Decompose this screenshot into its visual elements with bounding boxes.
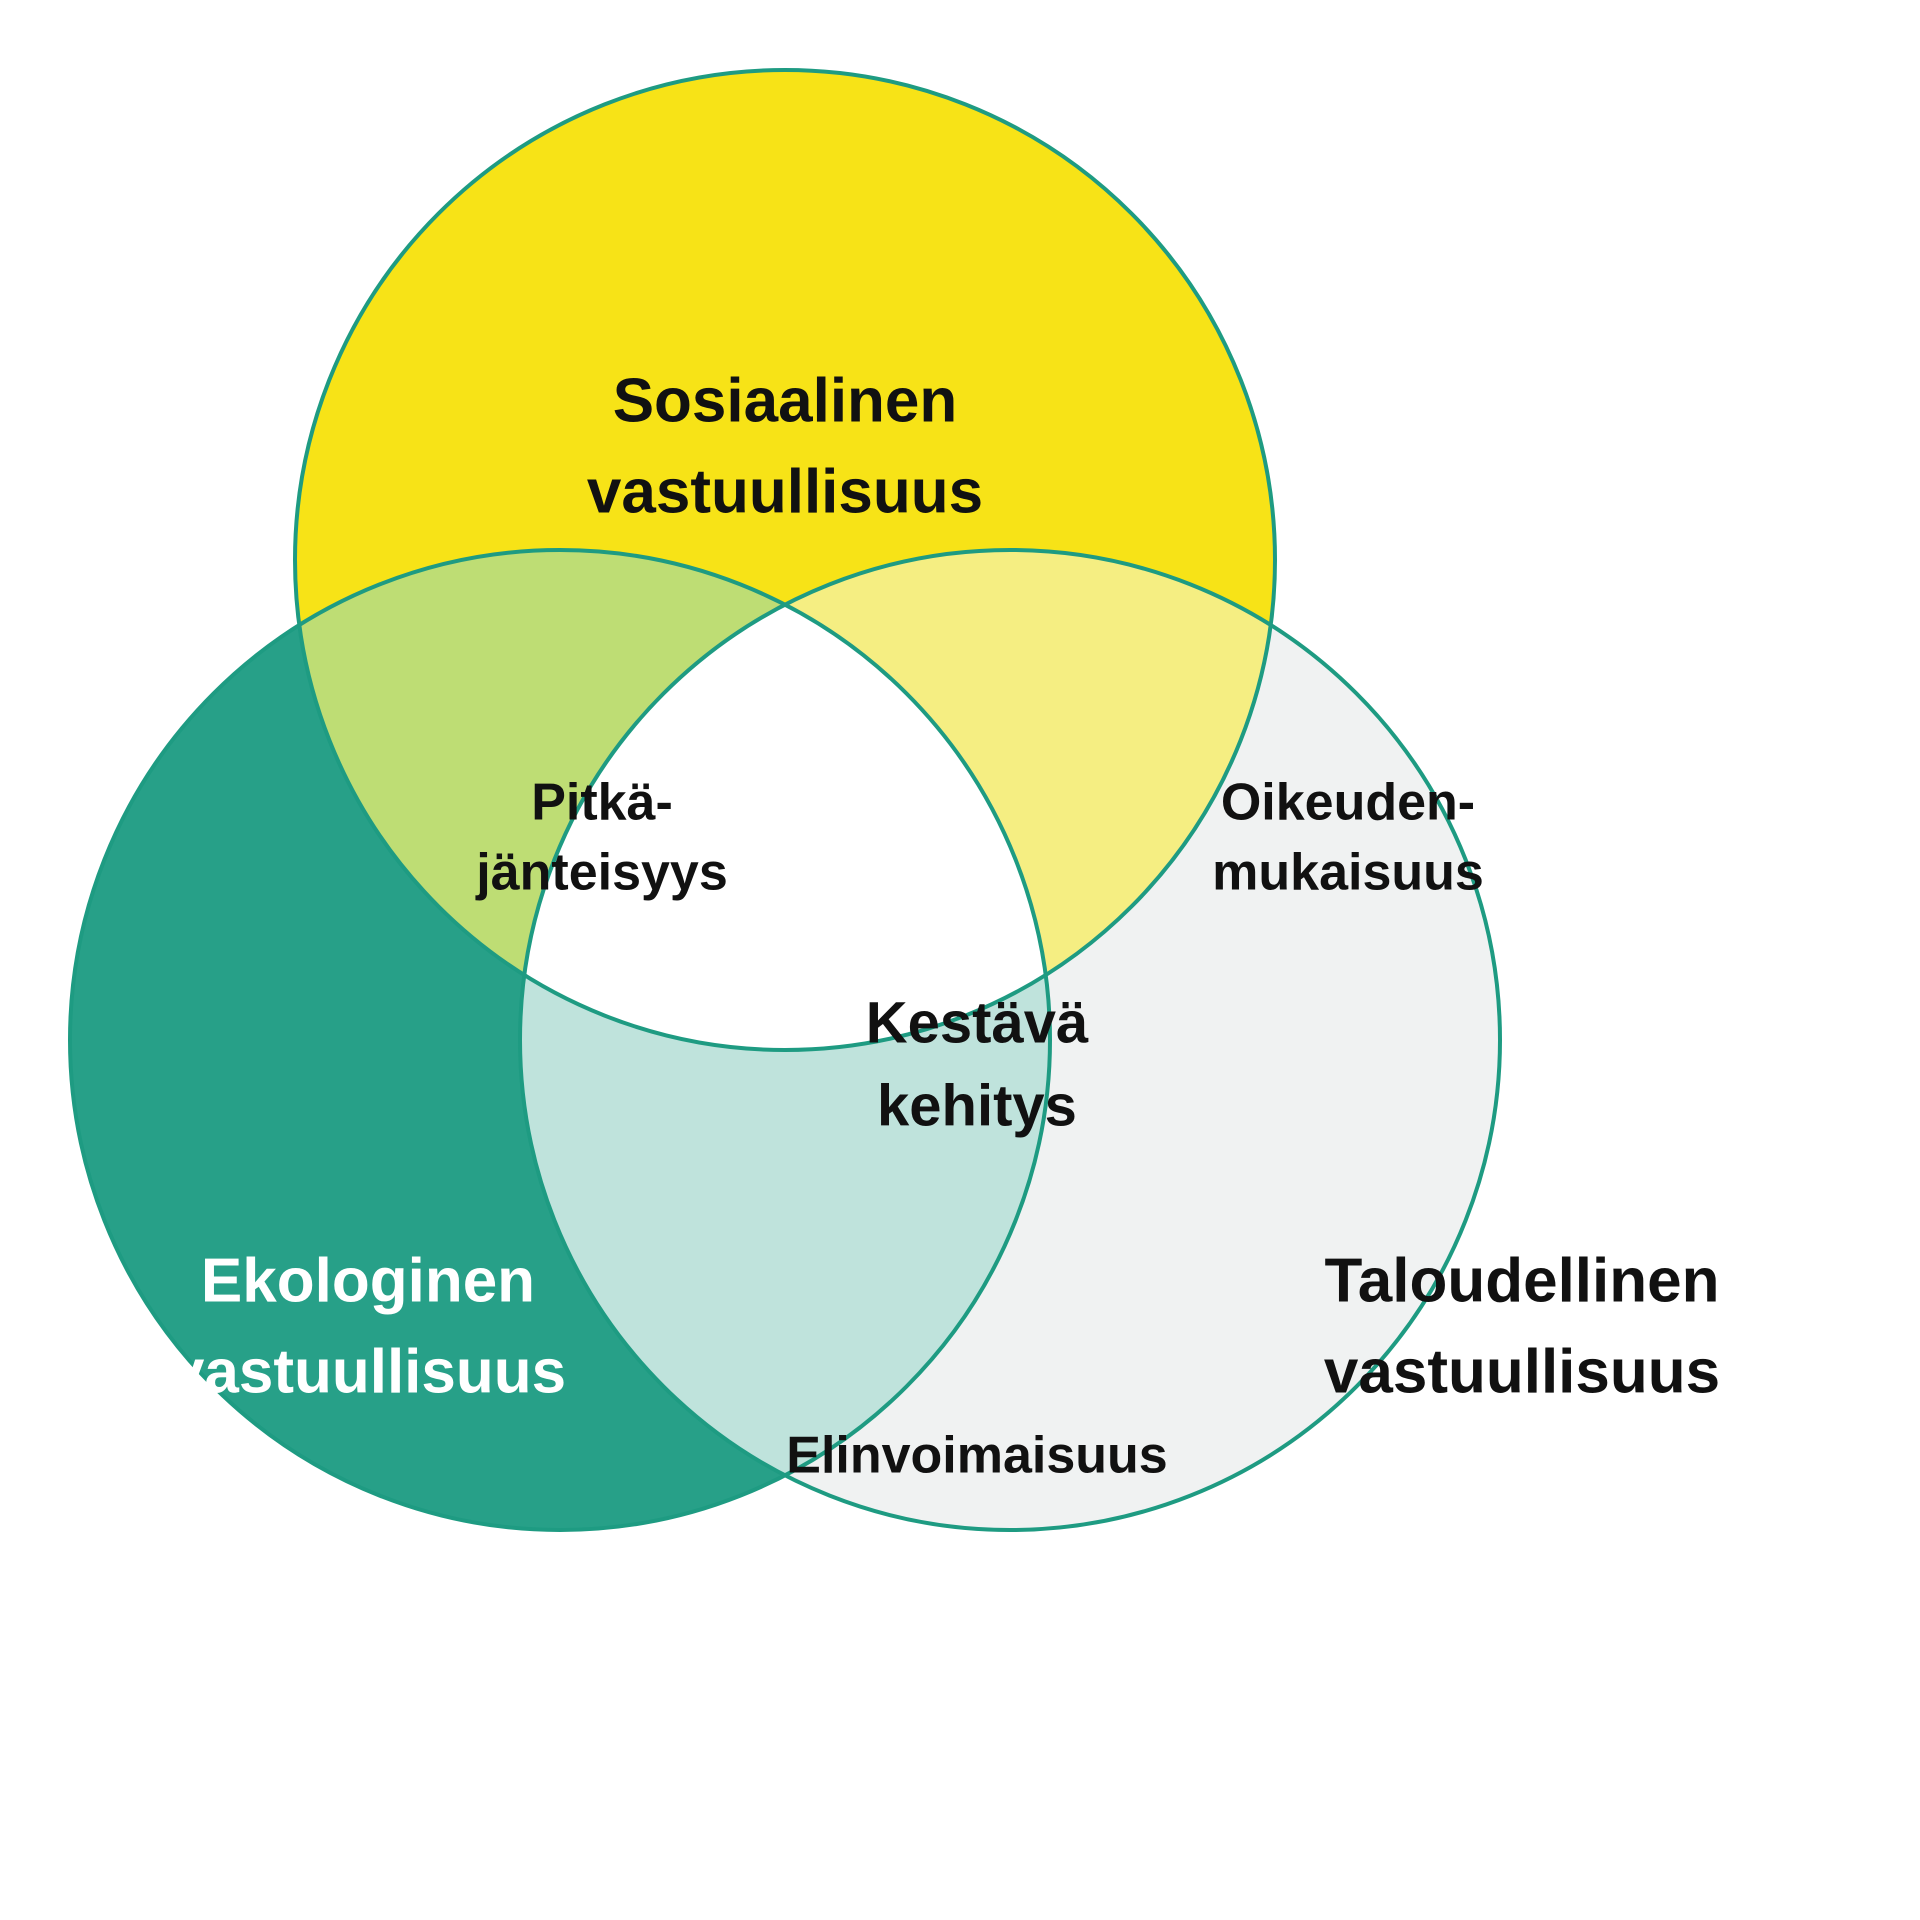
label-social-line1: Sosiaalinen bbox=[613, 366, 958, 435]
label-ecological-line1: Ekologinen bbox=[201, 1246, 535, 1315]
label-kestava-kehitys-line2: kehitys bbox=[877, 1073, 1077, 1138]
label-kestava-kehitys-line1: Kestävä bbox=[866, 990, 1089, 1055]
label-economic-line2: vastuullisuus bbox=[1324, 1337, 1720, 1406]
label-oikeudenmukaisuus-line1: Oikeuden- bbox=[1221, 774, 1475, 832]
venn-diagram-canvas: Sosiaalinen vastuullisuus Ekologinen vas… bbox=[0, 0, 1920, 1920]
label-pitkajanteisyys-line2: jänteisyys bbox=[475, 844, 728, 902]
label-economic-line1: Taloudellinen bbox=[1325, 1246, 1720, 1315]
label-social-line2: vastuullisuus bbox=[587, 457, 983, 526]
label-overlap-ecological-economic: Elinvoimaisuus bbox=[786, 1427, 1167, 1485]
label-pitkajanteisyys-line1: Pitkä- bbox=[531, 774, 673, 832]
label-elinvoimaisuus: Elinvoimaisuus bbox=[786, 1427, 1167, 1485]
label-ecological-line2: vastuullisuus bbox=[170, 1337, 566, 1406]
venn-diagram: Sosiaalinen vastuullisuus Ekologinen vas… bbox=[0, 0, 1920, 1920]
label-oikeudenmukaisuus-line2: mukaisuus bbox=[1212, 844, 1484, 902]
